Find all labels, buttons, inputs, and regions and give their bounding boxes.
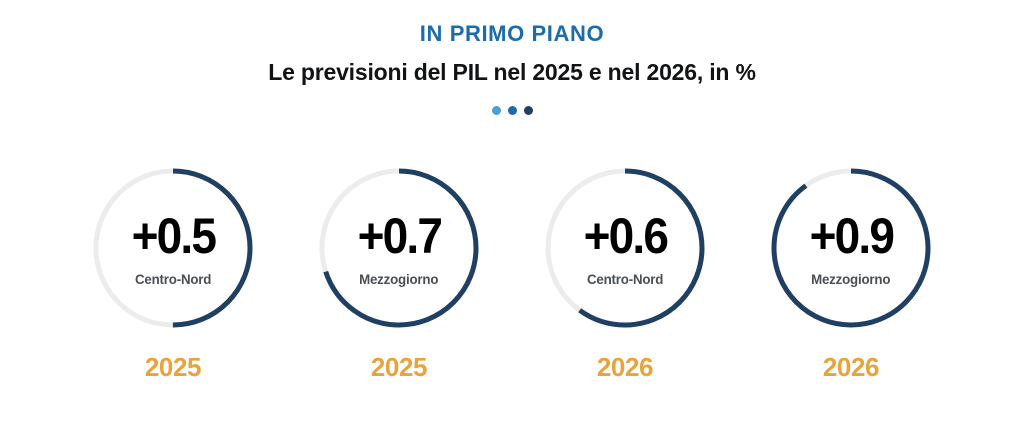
gauge-cell: +0.5 Centro-Nord 2025: [88, 163, 258, 380]
donut-chart-3: +0.6 Centro-Nord: [540, 163, 710, 333]
donut-arc: [774, 171, 928, 325]
carousel-dots[interactable]: [0, 106, 1024, 115]
donut-svg: [88, 163, 258, 333]
page-title: Le previsioni del PIL nel 2025 e nel 202…: [0, 59, 1024, 85]
donut-svg: [314, 163, 484, 333]
dot-icon-1[interactable]: [492, 106, 501, 115]
header: IN PRIMO PIANO Le previsioni del PIL nel…: [0, 0, 1024, 115]
donut-chart-1: +0.5 Centro-Nord: [88, 163, 258, 333]
donut-chart-2: +0.7 Mezzogiorno: [314, 163, 484, 333]
gauge-cell: +0.7 Mezzogiorno 2025: [314, 163, 484, 380]
gauge-year-label: 2026: [823, 354, 879, 380]
gauge-year-label: 2026: [597, 354, 653, 380]
gauge-cell: +0.9 Mezzogiorno 2026: [766, 163, 936, 380]
gauge-row: +0.5 Centro-Nord 2025 +0.7 Mezzogiorno 2…: [0, 163, 1024, 380]
gauge-cell: +0.6 Centro-Nord 2026: [540, 163, 710, 380]
gauge-year-label: 2025: [371, 354, 427, 380]
dot-icon-3[interactable]: [524, 106, 533, 115]
gauge-year-label: 2025: [145, 354, 201, 380]
donut-svg: [766, 163, 936, 333]
dot-icon-2[interactable]: [508, 106, 517, 115]
eyebrow-label: IN PRIMO PIANO: [0, 22, 1024, 46]
infographic-root: IN PRIMO PIANO Le previsioni del PIL nel…: [0, 0, 1024, 441]
donut-chart-4: +0.9 Mezzogiorno: [766, 163, 936, 333]
donut-svg: [540, 163, 710, 333]
